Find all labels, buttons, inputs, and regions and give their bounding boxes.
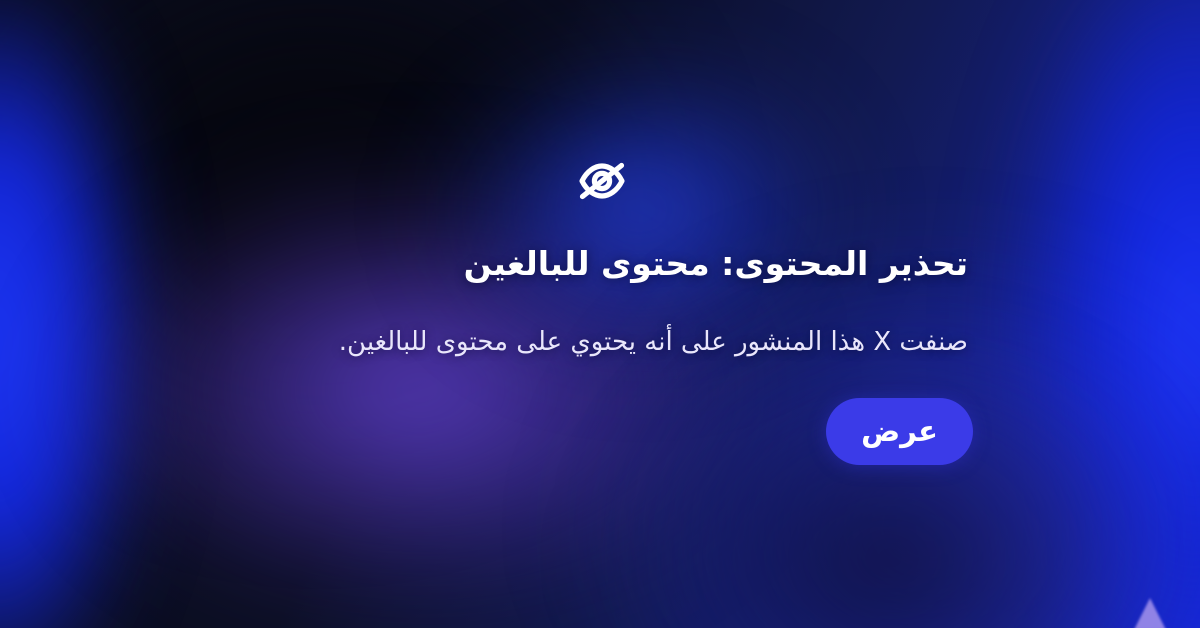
warning-description: صنفت X هذا المنشور على أنه يحتوي على محت… [228, 325, 968, 360]
eye-off-icon [570, 155, 634, 207]
view-button[interactable]: عرض [826, 398, 973, 465]
action-row: عرض [227, 398, 973, 465]
page-title: تحذير المحتوى: محتوى للبالغين [228, 243, 968, 284]
overlay-content: تحذير المحتوى: محتوى للبالغين صنفت X هذا… [0, 0, 1200, 628]
content-warning-overlay: تحذير المحتوى: محتوى للبالغين صنفت X هذا… [0, 0, 1200, 628]
